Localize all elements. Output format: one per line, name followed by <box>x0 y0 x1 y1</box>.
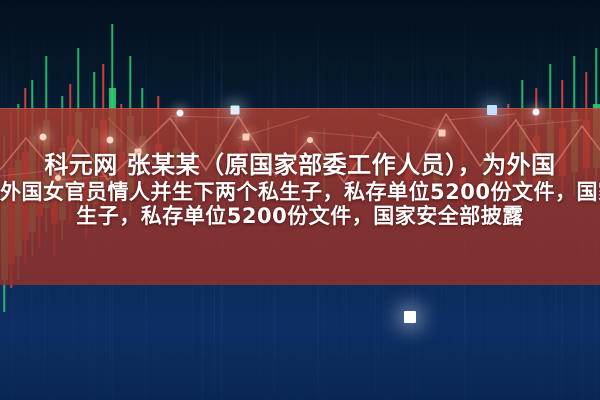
glow-node-circle <box>307 137 313 143</box>
screenshot-canvas: 科元网 张某某（原国家部委工作人员），为外国 外国女官员情人并生下两个私生子，私… <box>0 0 600 400</box>
glow-node-circle <box>107 137 114 144</box>
network-polyline <box>0 114 600 182</box>
glow-node-square <box>135 149 142 156</box>
glow-node-square <box>243 134 250 141</box>
network-polyline-overlay-front <box>0 0 600 400</box>
network-cross-link <box>378 114 446 132</box>
network-cross-link <box>310 132 378 138</box>
glow-node-square <box>487 105 497 115</box>
glow-node-square <box>439 130 446 137</box>
glow-node-square <box>231 106 240 115</box>
glow-node-square <box>404 311 416 323</box>
glow-node-circle <box>40 134 47 141</box>
glow-node-circle <box>177 110 184 117</box>
network-cross-link <box>58 176 108 180</box>
network-cross-link <box>0 170 58 176</box>
network-cross-link <box>516 120 582 126</box>
network-cross-link <box>446 114 516 120</box>
glow-node-circle <box>55 175 61 181</box>
glow-node-circle <box>533 109 540 116</box>
